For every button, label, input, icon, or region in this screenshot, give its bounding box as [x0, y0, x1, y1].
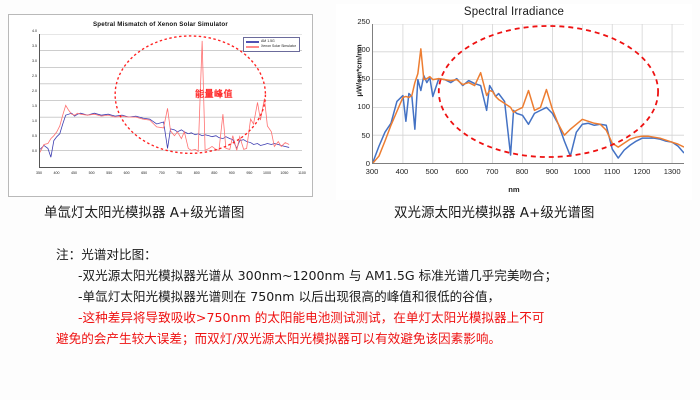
- right-x-tick: 600: [456, 168, 469, 176]
- left-x-tick: 950: [246, 172, 252, 176]
- legend-entry-xenon: Xenon Solar Simulator: [246, 45, 296, 50]
- left-y-tick: 0.5: [32, 135, 37, 139]
- right-y-tick: 50: [362, 132, 370, 140]
- right-series-blue: [373, 76, 684, 162]
- right-chart-panel: Spectral Irradiance μW/cm*cm/nm 250 200 …: [336, 4, 692, 200]
- left-chart-highlight-ellipse: [115, 36, 265, 153]
- left-chart-svg: [40, 34, 302, 167]
- left-x-tick: 900: [229, 172, 235, 176]
- note-heading: 注：光谱对比图：: [56, 244, 676, 265]
- right-x-tick: 1200: [633, 168, 650, 176]
- right-y-tick: 150: [357, 75, 370, 83]
- note-line-1: -双光源太阳光模拟器光谱从 300nm~1200nm 与 AM1.5G 标准光谱…: [56, 265, 676, 286]
- left-y-tick: 4.0: [32, 30, 37, 34]
- left-y-tick: 2.0: [32, 90, 37, 94]
- left-x-tick: 850: [211, 172, 217, 176]
- right-chart-gridlines: [373, 24, 684, 163]
- note-line-4: 避免的会产生较大误差；而双灯/双光源太阳光模拟器可以有效避免该因素影响。: [56, 328, 676, 349]
- left-x-tick: 800: [194, 172, 200, 176]
- left-x-tick: 1050: [280, 172, 288, 176]
- right-chart-title: Spectral Irradiance: [336, 6, 692, 18]
- left-chart-x-axis-labels: 350 400 450 500 550 600 650 700 750 800 …: [39, 172, 302, 180]
- right-x-tick: 1000: [574, 168, 591, 176]
- left-chart-plot-area: [39, 34, 302, 168]
- right-y-tick: 100: [357, 103, 370, 111]
- left-chart-legend: AM 1.5G Xenon Solar Simulator: [243, 37, 300, 52]
- left-y-tick: 3.0: [32, 60, 37, 64]
- left-x-tick: 400: [54, 172, 60, 176]
- left-x-tick: 650: [141, 172, 147, 176]
- legend-swatch-icon: [246, 46, 259, 47]
- right-x-tick: 900: [546, 168, 559, 176]
- left-chart-y-axis-labels: 4.0 3.5 3.0 2.5 2.0 1.5 1.0 0.5 0.0: [17, 32, 37, 152]
- right-chart-svg: [373, 24, 684, 163]
- left-y-tick: 2.5: [32, 75, 37, 79]
- left-x-tick: 600: [124, 172, 130, 176]
- left-x-tick: 1000: [263, 172, 271, 176]
- note-line-3: -这种差异将导致吸收>750nm 的太阳能电池测试测试，在单灯太阳光模拟器上不可: [56, 307, 676, 328]
- right-x-tick: 1300: [664, 168, 681, 176]
- right-x-tick: 1100: [604, 168, 620, 176]
- right-chart-plot-area: [372, 24, 684, 164]
- left-x-tick: 350: [36, 172, 42, 176]
- left-series-xenon: [40, 41, 289, 152]
- left-y-tick: 3.5: [32, 45, 37, 49]
- left-y-tick: 0.0: [32, 150, 37, 154]
- right-chart-highlight-ellipse: [439, 26, 658, 157]
- right-x-tick: 300: [366, 168, 379, 176]
- left-chart-annotation: 能量峰值: [195, 87, 233, 100]
- left-y-tick: 1.5: [32, 105, 37, 109]
- left-x-tick: 500: [89, 172, 95, 176]
- right-y-tick: 250: [357, 18, 370, 26]
- left-y-tick: 1.0: [32, 120, 37, 124]
- right-y-tick: 200: [357, 47, 370, 55]
- slide-root: Spetral Mismatch of Xenon Solar Simulato…: [0, 0, 700, 400]
- legend-label: Xenon Solar Simulator: [261, 45, 296, 49]
- note-block: 注：光谱对比图： -双光源太阳光模拟器光谱从 300nm~1200nm 与 AM…: [56, 244, 676, 349]
- left-chart-caption: 单氙灯太阳光模拟器 A+级光谱图: [44, 201, 244, 221]
- left-x-tick: 450: [71, 172, 77, 176]
- right-x-tick: 500: [426, 168, 439, 176]
- left-chart-panel: Spetral Mismatch of Xenon Solar Simulato…: [8, 14, 313, 197]
- right-x-tick: 700: [486, 168, 499, 176]
- right-chart-x-axis-labels: 300 400 500 600 700 800 900 1000 1100 12…: [372, 168, 684, 178]
- legend-label: AM 1.5G: [261, 40, 275, 44]
- left-x-tick: 750: [176, 172, 182, 176]
- left-x-tick: 700: [159, 172, 165, 176]
- note-line-2: -单氙灯太阳光模拟器光谱则在 750nm 以后出现很高的峰值和很低的谷值，: [56, 286, 676, 307]
- left-x-tick: 1100: [298, 172, 306, 176]
- right-chart-y-axis-labels: 250 200 150 100 50 0: [342, 22, 370, 164]
- right-x-tick: 400: [396, 168, 409, 176]
- right-series-orange: [373, 49, 684, 163]
- left-chart-title: Spetral Mismatch of Xenon Solar Simulato…: [9, 21, 312, 28]
- right-chart-x-axis-title: nm: [336, 185, 692, 194]
- right-x-tick: 800: [516, 168, 529, 176]
- right-chart-caption: 双光源太阳光模拟器 A+级光谱图: [394, 201, 594, 221]
- legend-swatch-icon: [246, 41, 259, 42]
- left-x-tick: 550: [106, 172, 112, 176]
